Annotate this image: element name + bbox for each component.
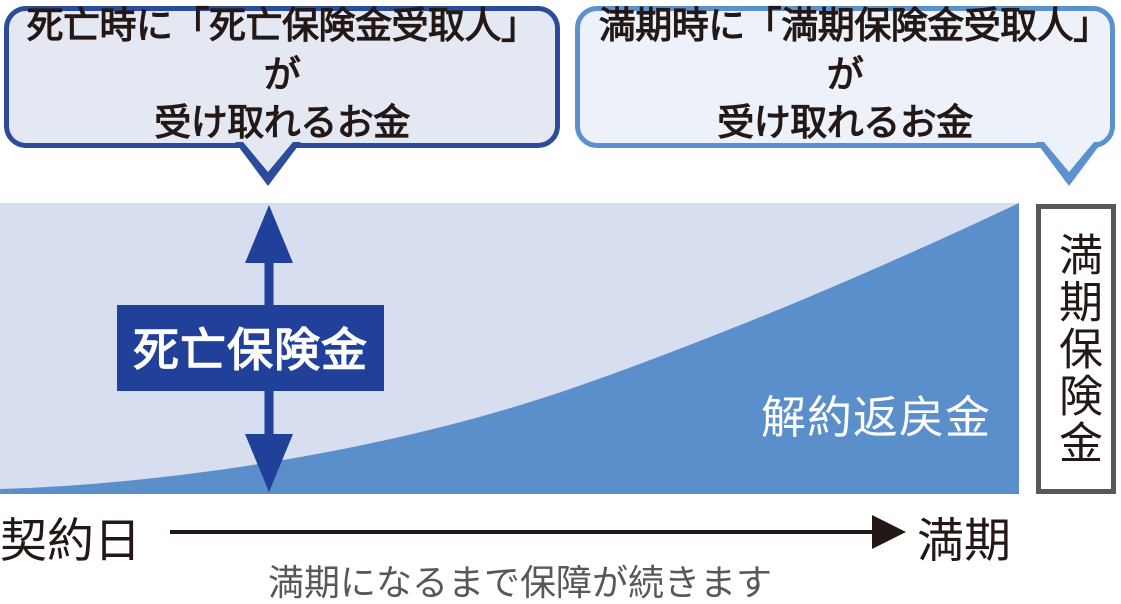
death-benefit-arrow-head-up [245, 205, 293, 263]
callout-maturity-benefit-line2: 受け取れるお金 [717, 102, 973, 143]
timeline-axis: 契約日 満期 [0, 496, 1121, 558]
axis-line [170, 530, 875, 534]
maturity-benefit-label: 満期保険金 [1054, 232, 1098, 467]
callout-maturity-benefit-text: 満期時に「満期保険金受取人」が 受け取れるお金 [590, 2, 1100, 148]
callout-death-benefit-line2: 受け取れるお金 [154, 102, 410, 143]
death-benefit-arrow-head-down [245, 434, 293, 492]
surrender-value-label: 解約返戻金 [761, 381, 991, 446]
maturity-benefit-box: 満期保険金 [1036, 204, 1116, 494]
coverage-period-caption: 満期になるまで保障が続きます [0, 554, 1040, 604]
death-benefit-label: 死亡保険金 [117, 305, 384, 391]
callout-death-benefit-text: 死亡時に「死亡保険金受取人」が 受け取れるお金 [19, 2, 545, 148]
callout-death-benefit-tail [235, 142, 301, 186]
callout-death-benefit: 死亡時に「死亡保険金受取人」が 受け取れるお金 [4, 6, 560, 148]
callout-maturity-benefit-line1: 満期時に「満期保険金受取人」が [599, 5, 1092, 95]
callout-death-benefit-line1: 死亡時に「死亡保険金受取人」が [27, 5, 538, 95]
insurance-diagram: 死亡時に「死亡保険金受取人」が 受け取れるお金 満期時に「満期保険金受取人」が … [0, 0, 1121, 604]
axis-arrow-icon [872, 515, 906, 549]
callout-maturity-benefit-tail [1036, 142, 1102, 186]
callout-maturity-benefit: 満期時に「満期保険金受取人」が 受け取れるお金 [575, 6, 1115, 148]
